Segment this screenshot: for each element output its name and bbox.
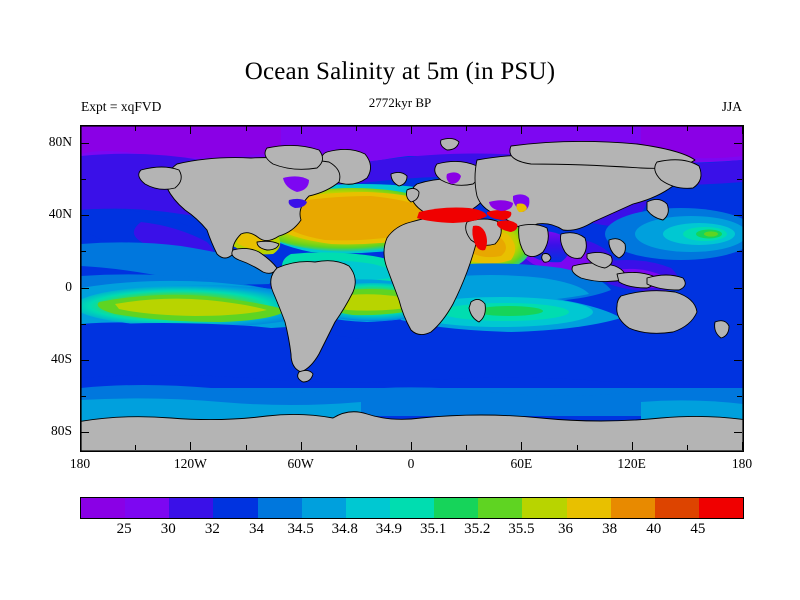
x-axis-tick bbox=[632, 126, 633, 134]
colorbar-band bbox=[258, 498, 302, 518]
x-axis-tick bbox=[687, 126, 688, 131]
colorbar-band bbox=[434, 498, 478, 518]
x-axis-tick bbox=[246, 126, 247, 131]
y-axis-tick bbox=[737, 251, 742, 252]
x-axis-tick bbox=[742, 126, 743, 134]
y-axis-tick bbox=[81, 360, 89, 361]
y-axis-tick bbox=[737, 396, 742, 397]
y-axis-tick bbox=[81, 179, 86, 180]
x-axis-label: 180 bbox=[712, 456, 772, 472]
y-axis-tick bbox=[734, 215, 742, 216]
x-axis-tick bbox=[356, 445, 357, 450]
x-axis-tick bbox=[466, 126, 467, 131]
y-axis-label: 0 bbox=[26, 279, 72, 295]
y-axis-label: 80N bbox=[26, 134, 72, 150]
colorbar-band bbox=[655, 498, 699, 518]
figure-canvas: Ocean Salinity at 5m (in PSU) 2772kyr BP… bbox=[0, 0, 800, 600]
x-axis-tick bbox=[80, 126, 81, 134]
map-plot-area bbox=[80, 125, 744, 452]
x-axis-tick bbox=[632, 442, 633, 450]
x-axis-tick bbox=[411, 126, 412, 134]
colorbar-tick-label: 45 bbox=[668, 521, 728, 538]
x-axis-tick bbox=[687, 445, 688, 450]
y-axis-tick bbox=[734, 432, 742, 433]
colorbar-band bbox=[522, 498, 566, 518]
colorbar-band bbox=[125, 498, 169, 518]
salinity-map bbox=[81, 126, 743, 451]
x-axis-tick bbox=[577, 445, 578, 450]
x-axis-tick bbox=[577, 126, 578, 131]
colorbar-band bbox=[346, 498, 390, 518]
x-axis-label: 120W bbox=[160, 456, 220, 472]
y-axis-tick bbox=[737, 324, 742, 325]
y-axis-tick bbox=[734, 288, 742, 289]
x-axis-tick bbox=[411, 442, 412, 450]
colorbar-band bbox=[302, 498, 346, 518]
x-axis-tick bbox=[356, 126, 357, 131]
x-axis-tick bbox=[301, 126, 302, 134]
colorbar-band bbox=[169, 498, 213, 518]
y-axis-tick bbox=[81, 432, 89, 433]
y-axis-tick bbox=[81, 288, 89, 289]
x-axis-tick bbox=[190, 442, 191, 450]
x-axis-tick bbox=[742, 442, 743, 450]
colorbar-band bbox=[390, 498, 434, 518]
colorbar-band bbox=[611, 498, 655, 518]
y-axis-tick bbox=[81, 143, 89, 144]
x-axis-tick bbox=[135, 126, 136, 131]
experiment-label: Expt = xqFVD bbox=[81, 99, 161, 115]
x-axis-label: 180 bbox=[50, 456, 110, 472]
colorbar-band bbox=[699, 498, 743, 518]
x-axis-tick bbox=[301, 442, 302, 450]
x-axis-tick bbox=[521, 442, 522, 450]
y-axis-tick bbox=[81, 324, 86, 325]
y-axis-tick bbox=[81, 396, 86, 397]
x-axis-tick bbox=[80, 442, 81, 450]
colorbar-band bbox=[81, 498, 125, 518]
page-title: Ocean Salinity at 5m (in PSU) bbox=[0, 58, 800, 86]
y-axis-label: 80S bbox=[26, 423, 72, 439]
colorbar-band bbox=[478, 498, 522, 518]
colorbar bbox=[80, 497, 744, 519]
x-axis-tick bbox=[246, 445, 247, 450]
y-axis-label: 40N bbox=[26, 206, 72, 222]
x-axis-tick bbox=[521, 126, 522, 134]
x-axis-label: 120E bbox=[602, 456, 662, 472]
colorbar-band bbox=[213, 498, 257, 518]
colorbar-band bbox=[567, 498, 611, 518]
y-axis-label: 40S bbox=[26, 351, 72, 367]
season-label: JJA bbox=[722, 99, 742, 115]
x-axis-tick bbox=[135, 445, 136, 450]
x-axis-label: 0 bbox=[381, 456, 441, 472]
y-axis-tick bbox=[737, 179, 742, 180]
y-axis-tick bbox=[81, 215, 89, 216]
x-axis-label: 60W bbox=[271, 456, 331, 472]
y-axis-tick bbox=[734, 360, 742, 361]
y-axis-tick bbox=[734, 143, 742, 144]
y-axis-tick bbox=[81, 251, 86, 252]
x-axis-label: 60E bbox=[491, 456, 551, 472]
x-axis-tick bbox=[190, 126, 191, 134]
x-axis-tick bbox=[466, 445, 467, 450]
